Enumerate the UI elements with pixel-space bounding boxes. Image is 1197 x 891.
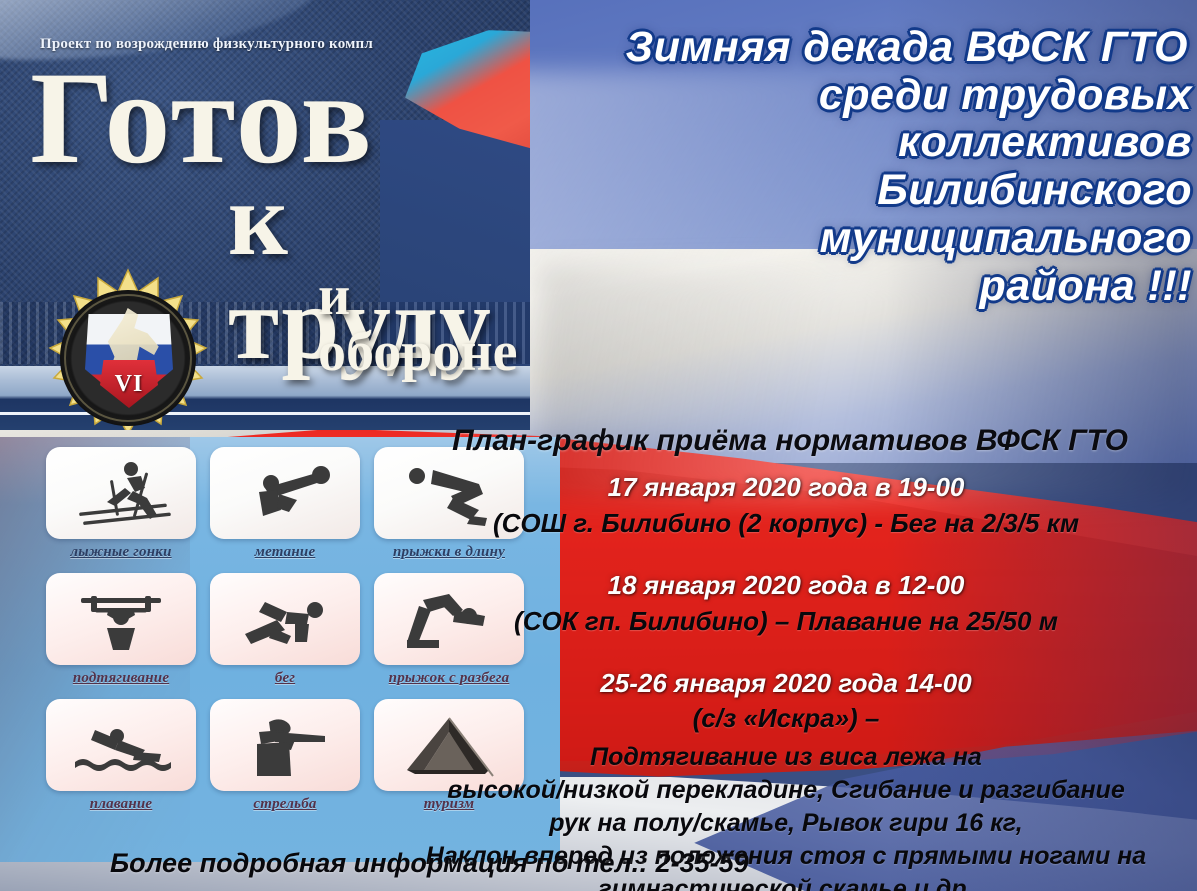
icon-tile <box>46 447 196 539</box>
icon-cell-skiing[interactable]: лыжные гонки <box>46 447 196 567</box>
gto-poster-image: Проект по возрождению физкультурного ком… <box>0 0 530 430</box>
icon-tile <box>46 699 196 791</box>
icon-cell-pull-up[interactable]: подтягивание <box>46 573 196 693</box>
gto-event-poster: Проект по возрождению физкультурного ком… <box>0 0 1197 891</box>
schedule-event-1: 17 января 2020 года в 19-00 (СОШ г. Били… <box>380 470 1192 542</box>
contact-info: Более подробная информация по тел.: 2-35… <box>110 848 749 879</box>
shooting-icon <box>229 710 341 780</box>
event-date: 17 января 2020 года в 19-00 <box>380 470 1192 506</box>
headline-block: Зимняя декада ВФСК ГТО среди трудовых ко… <box>492 24 1192 310</box>
icon-cell-throwing[interactable]: метание <box>210 447 360 567</box>
gto-title-gotov: Готов <box>30 52 374 184</box>
icon-label: метание <box>210 544 360 561</box>
event-date: 18 января 2020 года в 12-00 <box>380 568 1192 604</box>
schedule-event-2: 18 января 2020 года в 12-00 (СОК гп. Бил… <box>380 568 1192 640</box>
icon-tile <box>46 573 196 665</box>
throwing-icon <box>229 458 341 528</box>
event-detail-line-3: рук на полу/скамье, Рывок гири 16 кг, <box>380 807 1192 840</box>
icon-tile <box>210 699 360 791</box>
headline-line-6: района !!! <box>492 263 1192 311</box>
icon-label: подтягивание <box>46 670 196 687</box>
event-detail-line-1: Подтягивание из виса лежа на <box>380 741 1192 774</box>
plan-schedule-title: План-график приёма нормативов ВФСК ГТО <box>400 424 1180 458</box>
headline-line-4: Билибинского <box>492 167 1192 215</box>
schedule-list: 17 января 2020 года в 19-00 (СОШ г. Били… <box>380 470 1192 891</box>
icon-tile <box>210 447 360 539</box>
icon-label: бег <box>210 670 360 687</box>
schedule-event-3: 25-26 января 2020 года 14-00 (с/з «Искра… <box>380 666 1192 738</box>
event-place: (с/з «Искра») – <box>380 701 1192 737</box>
running-icon <box>229 584 341 654</box>
icon-cell-running[interactable]: бег <box>210 573 360 693</box>
swimming-icon <box>65 710 177 780</box>
event-date: 25-26 января 2020 года 14-00 <box>380 666 1192 702</box>
icon-cell-shooting[interactable]: стрельба <box>210 699 360 819</box>
event-place: (СОШ г. Билибино (2 корпус) - Бег на 2/3… <box>380 506 1192 542</box>
pull-up-icon <box>65 584 177 654</box>
icon-label: стрельба <box>210 796 360 813</box>
icon-label: плавание <box>46 796 196 813</box>
headline-line-2: среди трудовых <box>492 72 1192 120</box>
icon-cell-swimming[interactable]: плавание <box>46 699 196 819</box>
headline-line-5: муниципального <box>492 215 1192 263</box>
event-place: (СОК гп. Билибино) – Плавание на 25/50 м <box>380 604 1192 640</box>
icon-label: лыжные гонки <box>46 544 196 561</box>
gto-emblem: VI <box>38 268 218 430</box>
schedule-spacer <box>380 546 1192 568</box>
skier-icon <box>65 458 177 528</box>
icon-tile <box>210 573 360 665</box>
headline-line-1: Зимняя декада ВФСК ГТО <box>492 24 1188 72</box>
event-detail-line-2: высокой/низкой перекладине, Сгибание и р… <box>380 774 1192 807</box>
schedule-spacer <box>380 644 1192 666</box>
headline-line-3: коллективов <box>492 119 1192 167</box>
